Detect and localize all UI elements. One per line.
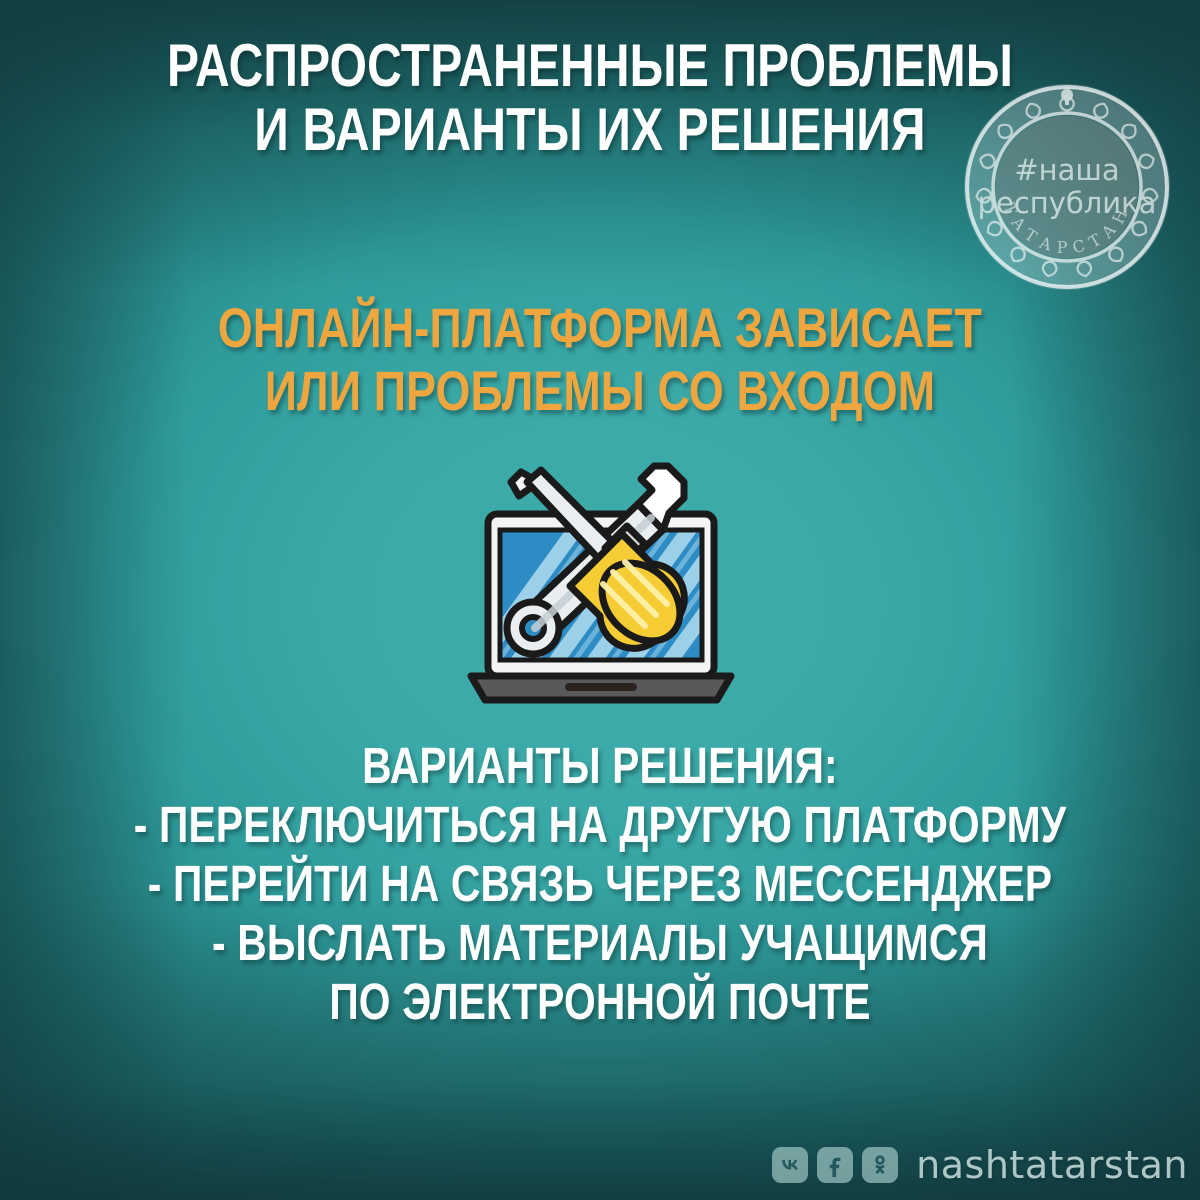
odnoklassniki-icon[interactable] xyxy=(862,1147,898,1183)
problem-statement: ОНЛАЙН-ПЛАТФОРМА ЗАВИСАЕТ ИЛИ ПРОБЛЕМЫ С… xyxy=(0,296,1200,422)
solution-item-1: - ПЕРЕКЛЮЧИТЬСЯ НА ДРУГУЮ ПЛАТФОРМУ xyxy=(120,795,1080,854)
nasha-respublika-badge: #наша республика ТАТАРСТАН xyxy=(963,83,1171,291)
subhead-line-2: ИЛИ ПРОБЛЕМЫ СО ВХОДОМ xyxy=(120,359,1080,422)
laptop-with-tools-icon xyxy=(455,452,747,704)
solutions-block: ВАРИАНТЫ РЕШЕНИЯ: - ПЕРЕКЛЮЧИТЬСЯ НА ДРУ… xyxy=(0,736,1200,1031)
vk-icon[interactable] xyxy=(772,1147,808,1183)
poster-canvas: РАСПРОСТРАНЕННЫЕ ПРОБЛЕМЫ И ВАРИАНТЫ ИХ … xyxy=(0,0,1200,1200)
solution-item-3: - ВЫСЛАТЬ МАТЕРИАЛЫ УЧАЩИМСЯ xyxy=(120,913,1080,972)
facebook-icon[interactable] xyxy=(817,1147,853,1183)
laptop-trackpad-notch xyxy=(565,683,637,691)
solution-item-3-cont: ПО ЭЛЕКТРОННОЙ ПОЧТЕ xyxy=(120,972,1080,1031)
headline-line-2: И ВАРИАНТЫ ИХ РЕШЕНИЯ xyxy=(118,98,1062,162)
badge-hashtag-line-1: #наша xyxy=(1014,153,1119,187)
footer-social-bar: nashtatarstan xyxy=(0,1146,1188,1184)
social-handle[interactable]: nashtatarstan xyxy=(916,1146,1188,1184)
solution-item-2: - ПЕРЕЙТИ НА СВЯЗЬ ЧЕРЕЗ МЕССЕНДЖЕР xyxy=(120,854,1080,913)
subhead-line-1: ОНЛАЙН-ПЛАТФОРМА ЗАВИСАЕТ xyxy=(120,296,1080,359)
solutions-heading: ВАРИАНТЫ РЕШЕНИЯ: xyxy=(120,736,1080,795)
headline-line-1: РАСПРОСТРАНЕННЫЕ ПРОБЛЕМЫ xyxy=(118,34,1062,98)
